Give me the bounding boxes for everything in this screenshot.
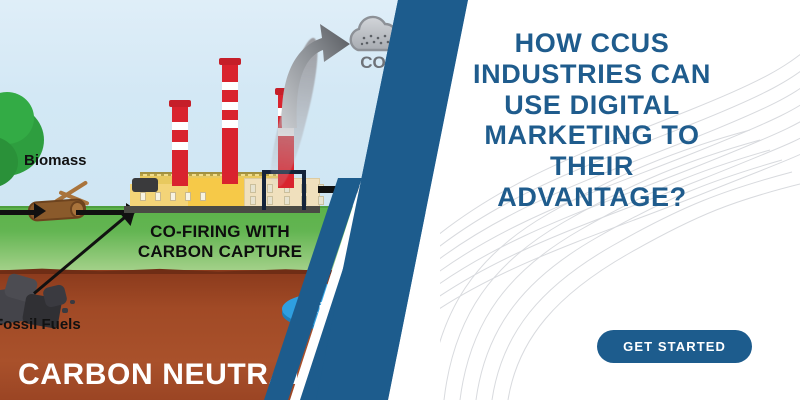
window	[318, 196, 324, 205]
smokestack-band	[172, 142, 188, 150]
co2-cloud-label: CO2	[360, 53, 392, 74]
smokestack-band	[222, 102, 238, 110]
page-title: HOW CCUS INDUSTRIES CAN USE DIGITAL MARK…	[457, 28, 727, 213]
carbon-capture-illustration: CO2 Biomass Fossil Fuels CO-FIRING WITH …	[0, 0, 420, 400]
biomass-flow-arrowhead	[34, 203, 46, 219]
capture-pipe-vertical	[357, 186, 364, 216]
coal-fragment	[70, 300, 75, 304]
co2-cloud-icon: CO2	[338, 8, 414, 74]
right-content-panel: HOW CCUS INDUSTRIES CAN USE DIGITAL MARK…	[440, 0, 800, 400]
window	[140, 192, 146, 201]
smokestack-band	[222, 120, 238, 128]
label-biomass: Biomass	[24, 152, 87, 169]
label-cofiring-line2: CARBON CAPTURE	[138, 242, 302, 261]
biomass-flow-arrow	[0, 210, 36, 215]
storage-tank-icon	[132, 178, 158, 192]
label-co2-underground: CO	[360, 222, 384, 240]
smokestack-cap	[169, 100, 191, 107]
smokestack-cap	[219, 58, 241, 65]
window	[200, 192, 206, 201]
get-started-button[interactable]: GET STARTED	[597, 330, 752, 363]
smokestack-band	[222, 82, 238, 90]
window	[250, 196, 256, 205]
window-row	[140, 192, 206, 201]
label-fossil-fuels: Fossil Fuels	[0, 316, 81, 333]
label-carbon-neutral: CARBON NEUTRAL	[18, 358, 310, 392]
smokestack-band	[172, 122, 188, 130]
coal-fragment	[62, 308, 68, 313]
window	[155, 192, 161, 201]
window	[185, 192, 191, 201]
window	[250, 184, 256, 193]
label-cofiring-line1: CO-FIRING WITH	[150, 222, 290, 241]
label-saline-aquifer: Saline Aquifer	[296, 300, 396, 317]
label-cofiring: CO-FIRING WITH CARBON CAPTURE	[120, 222, 320, 262]
banner-root: CO2 Biomass Fossil Fuels CO-FIRING WITH …	[0, 0, 800, 400]
window	[170, 192, 176, 201]
